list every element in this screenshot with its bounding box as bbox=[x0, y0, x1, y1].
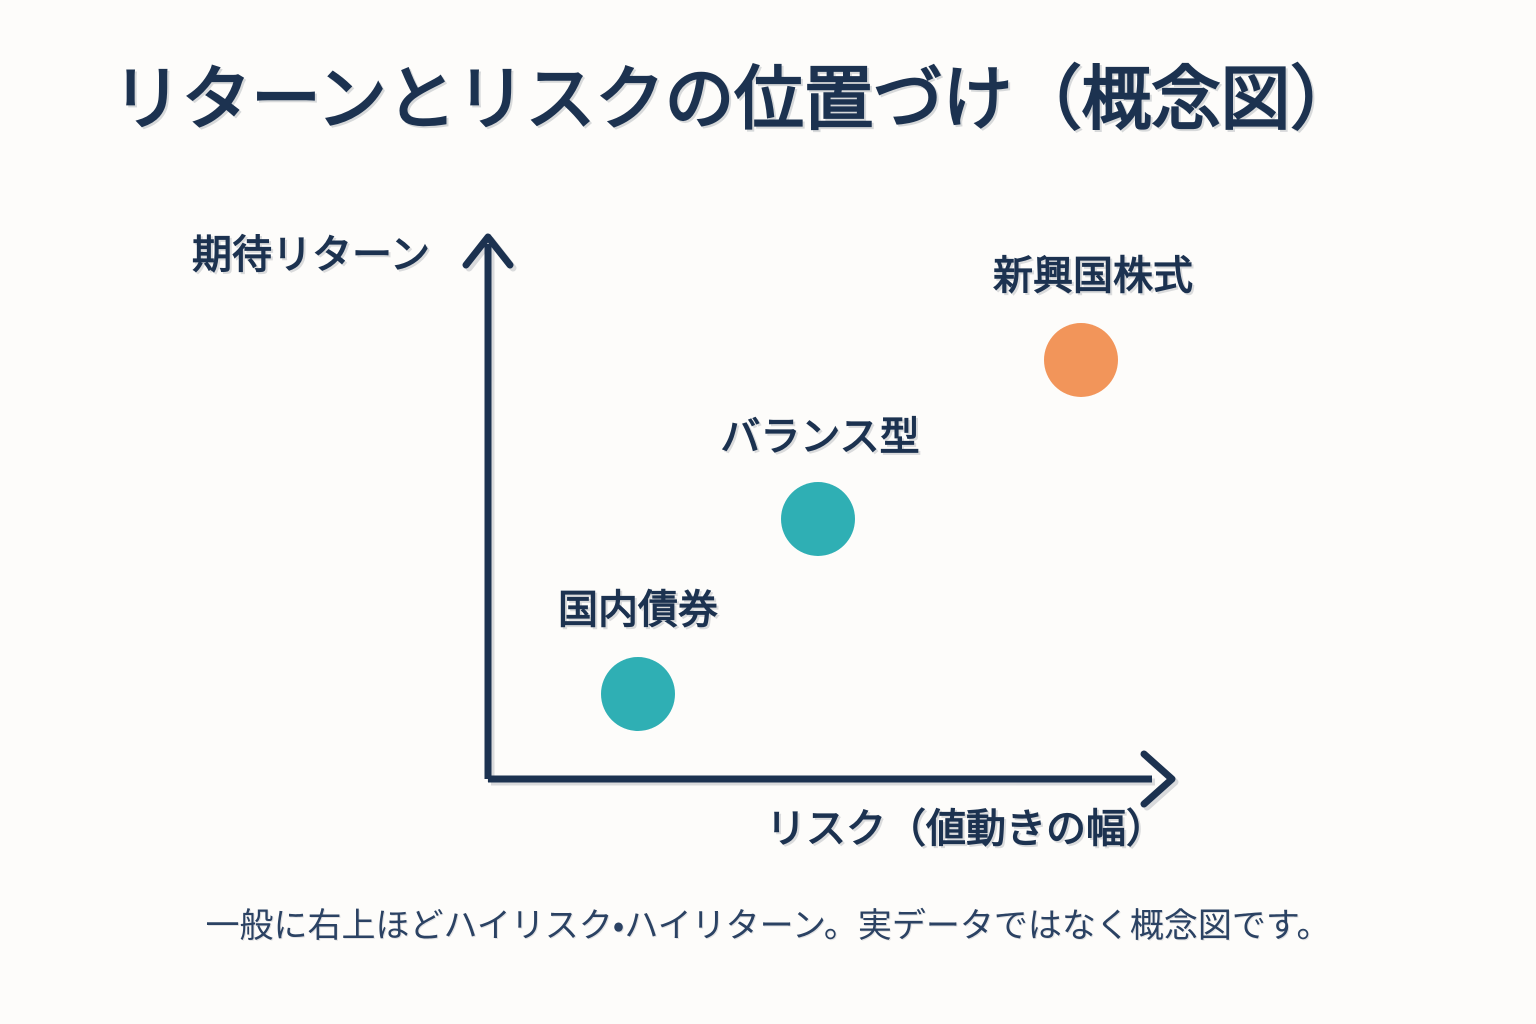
data-point-bubble bbox=[601, 657, 675, 731]
footnote-text: 一般に右上ほどハイリスク・ハイリターン。実データではなく概念図です。 bbox=[0, 898, 1536, 947]
data-point-bubble bbox=[1044, 323, 1118, 397]
x-axis-title: リスク（値動きの幅） bbox=[766, 796, 1166, 854]
diagram-canvas: リターンとリスクの位置づけ（概念図） 期待リターン リスク（値動きの幅） 国内債… bbox=[0, 0, 1536, 1024]
data-point-bubble bbox=[781, 482, 855, 556]
axes-svg bbox=[0, 0, 1536, 1024]
data-point-label: 国内債券 bbox=[558, 577, 718, 635]
data-point-label: バランス型 bbox=[720, 404, 919, 462]
plot-area: 期待リターン リスク（値動きの幅） 国内債券バランス型新興国株式 bbox=[0, 0, 1536, 1024]
data-point-label: 新興国株式 bbox=[993, 243, 1193, 301]
y-axis-title: 期待リターン bbox=[192, 222, 430, 280]
